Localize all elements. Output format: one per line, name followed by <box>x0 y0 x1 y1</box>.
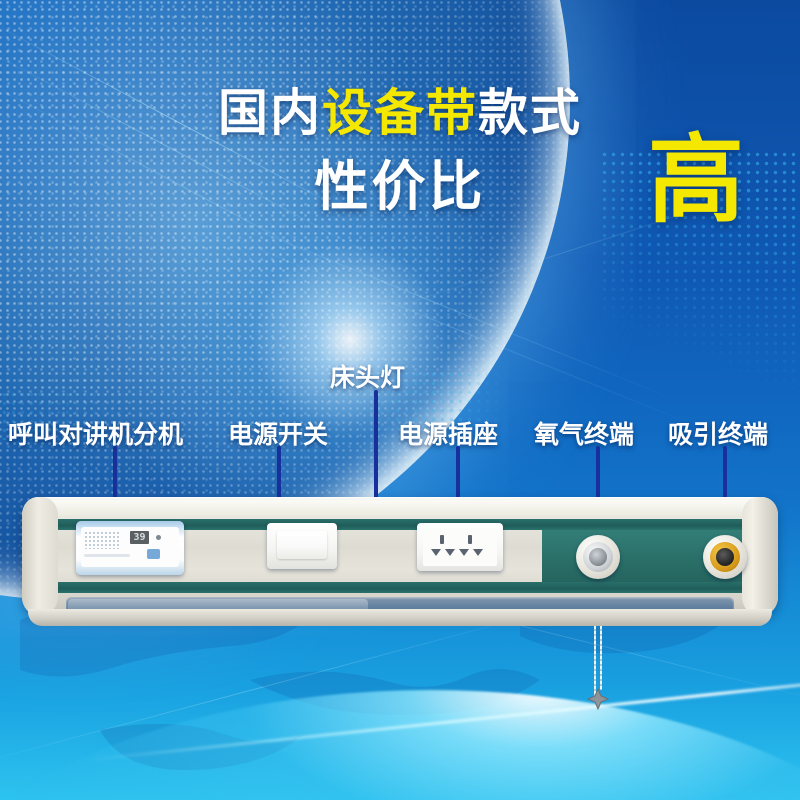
socket-pin-icon <box>473 549 483 556</box>
socket-pin-icon <box>431 549 441 556</box>
callout-label-intercom: 呼叫对讲机分机 <box>8 415 183 451</box>
socket-slot-icon <box>440 535 444 544</box>
light-streak <box>0 49 365 252</box>
intercom-call-button[interactable] <box>147 549 160 559</box>
status-led-icon <box>156 535 161 540</box>
cord-pendant-icon[interactable] <box>587 688 609 710</box>
power-socket[interactable] <box>417 523 503 571</box>
headline-big-character: 高 <box>648 132 744 228</box>
bottom-light-line <box>82 665 800 762</box>
headline-highlight: 设备带 <box>322 84 478 142</box>
oxygen-terminal[interactable] <box>576 535 620 579</box>
unit-top-face <box>26 500 774 516</box>
socket-pin-icon <box>445 549 455 556</box>
callout-label-bed-lamp: 床头灯 <box>330 358 405 394</box>
intercom-slot <box>84 554 130 557</box>
light-streak <box>0 610 550 771</box>
speaker-grille-icon <box>84 531 120 549</box>
unit-end-cap-right <box>742 497 778 615</box>
light-streak <box>219 233 702 429</box>
intercom-display: 39 <box>130 531 149 544</box>
socket-pin-icon <box>459 549 469 556</box>
headline-part-2: 款式 <box>478 84 582 142</box>
suction-terminal-port <box>716 548 734 566</box>
bottom-light-sweep <box>0 690 800 800</box>
light-streak <box>189 203 672 399</box>
accent-stripe-bottom <box>54 582 746 593</box>
poster-canvas: 国内设备带款式 性价比 高 呼叫对讲机分机 电源开关 床头灯 电源插座 氧气终端… <box>0 0 800 800</box>
unit-end-cap-left <box>22 497 58 615</box>
unit-bottom-edge <box>28 609 772 626</box>
callout-label-power-socket: 电源插座 <box>398 415 498 451</box>
headline-part-1: 国内 <box>218 84 322 142</box>
socket-slot-icon <box>468 535 472 544</box>
bed-head-unit: 39 <box>22 497 778 632</box>
suction-terminal[interactable] <box>703 535 747 579</box>
nurse-call-intercom[interactable]: 39 <box>76 521 184 575</box>
rocker-paddle[interactable] <box>277 531 327 559</box>
oxygen-terminal-port <box>589 548 607 566</box>
socket-faceplate <box>423 528 497 566</box>
callout-label-oxygen-terminal: 氧气终端 <box>534 415 634 451</box>
callout-label-suction-terminal: 吸引终端 <box>668 415 768 451</box>
suction-pull-cord <box>600 626 602 690</box>
power-switch[interactable] <box>267 523 337 569</box>
